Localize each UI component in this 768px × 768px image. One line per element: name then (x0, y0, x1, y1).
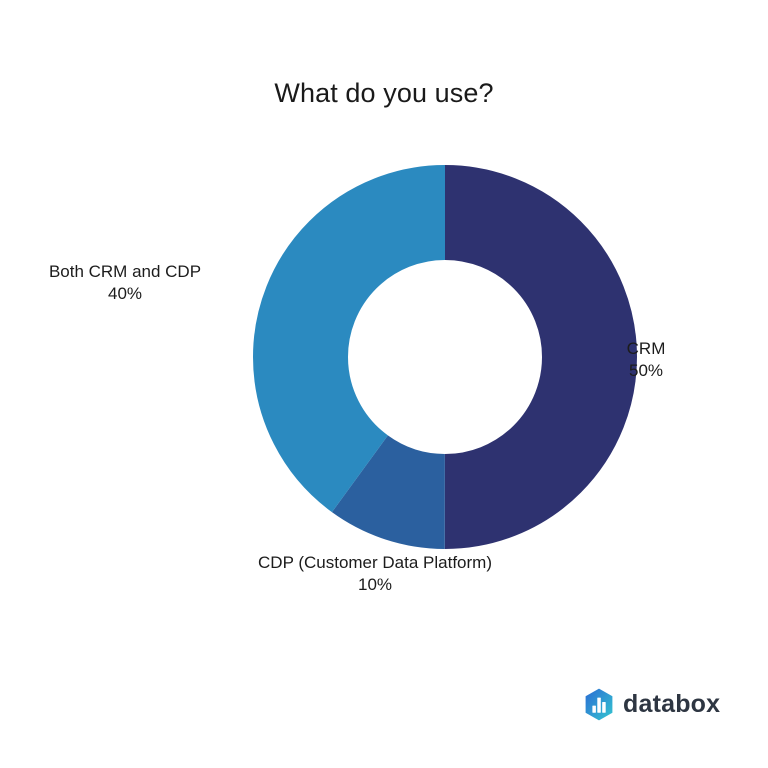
slice-label-crm-name: CRM (598, 338, 694, 360)
donut-chart-svg (0, 0, 768, 768)
donut-chart (0, 0, 768, 768)
slice-label-both: Both CRM and CDP 40% (20, 261, 230, 305)
slice-label-cdp-value: 10% (225, 574, 525, 596)
slice-label-crm-value: 50% (598, 360, 694, 382)
bar-chart-hexagon-icon (584, 688, 614, 721)
slice-label-both-name: Both CRM and CDP (20, 261, 230, 283)
slice-label-cdp: CDP (Customer Data Platform) 10% (225, 552, 525, 596)
databox-wordmark: databox (623, 692, 720, 717)
databox-logo: databox (584, 685, 720, 723)
slice-label-both-value: 40% (20, 283, 230, 305)
slice-label-cdp-name: CDP (Customer Data Platform) (225, 552, 525, 574)
chart-canvas: What do you use? Both CRM and CDP 40% CR… (0, 0, 768, 768)
slice-label-crm: CRM 50% (598, 338, 694, 382)
